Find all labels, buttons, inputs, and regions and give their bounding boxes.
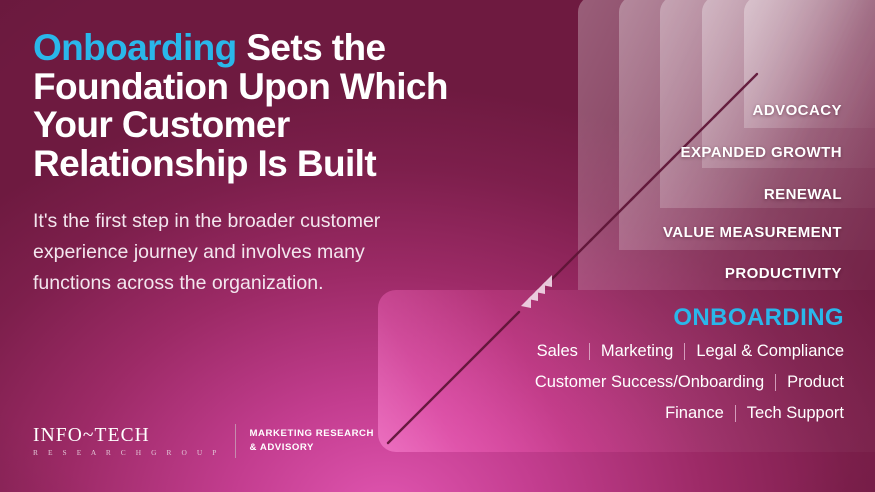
onboarding-detail-group: ONBOARDING Sales Marketing Legal & Compl… bbox=[344, 306, 844, 422]
stage-label-advocacy: ADVOCACY bbox=[753, 102, 842, 119]
function-finance: Finance bbox=[665, 405, 724, 422]
onboarding-stage-title: ONBOARDING bbox=[344, 306, 844, 330]
function-legal-compliance: Legal & Compliance bbox=[696, 343, 844, 360]
page-title: Onboarding Sets the Foundation Upon Whic… bbox=[33, 29, 503, 184]
logo-divider-icon bbox=[235, 424, 236, 458]
slide-canvas: Onboarding Sets the Foundation Upon Whic… bbox=[0, 0, 875, 492]
stage-label-value-measurement: VALUE MEASUREMENT bbox=[663, 224, 842, 241]
logo-tagline-line2: & ADVISORY bbox=[250, 441, 375, 455]
function-tech-support: Tech Support bbox=[747, 405, 844, 422]
function-sales: Sales bbox=[537, 343, 578, 360]
logo-name: INFO~TECH bbox=[33, 426, 221, 446]
logo-subtitle: R E S E A R C H G R O U P bbox=[33, 449, 221, 456]
function-row-1: Sales Marketing Legal & Compliance bbox=[344, 343, 844, 360]
stage-label-productivity: PRODUCTIVITY bbox=[725, 265, 842, 282]
function-row-2: Customer Success/Onboarding Product bbox=[344, 374, 844, 391]
stage-label-expanded-growth: EXPANDED GROWTH bbox=[681, 144, 842, 161]
function-customer-success-onboarding: Customer Success/Onboarding bbox=[535, 374, 764, 391]
function-product: Product bbox=[787, 374, 844, 391]
function-row-3: Finance Tech Support bbox=[344, 405, 844, 422]
divider-icon bbox=[589, 343, 590, 360]
brand-logo: INFO~TECH R E S E A R C H G R O U P MARK… bbox=[33, 424, 374, 458]
headline-accent-word: Onboarding bbox=[33, 27, 237, 68]
divider-icon bbox=[735, 405, 736, 422]
stage-label-renewal: RENEWAL bbox=[764, 186, 842, 203]
function-marketing: Marketing bbox=[601, 343, 673, 360]
logo-tagline-line1: MARKETING RESEARCH bbox=[250, 427, 375, 441]
divider-icon bbox=[684, 343, 685, 360]
subtitle-text: It's the first step in the broader custo… bbox=[33, 206, 433, 298]
logo-primary: INFO~TECH R E S E A R C H G R O U P bbox=[33, 426, 235, 457]
logo-tagline: MARKETING RESEARCH & ADVISORY bbox=[250, 427, 375, 455]
divider-icon bbox=[775, 374, 776, 391]
